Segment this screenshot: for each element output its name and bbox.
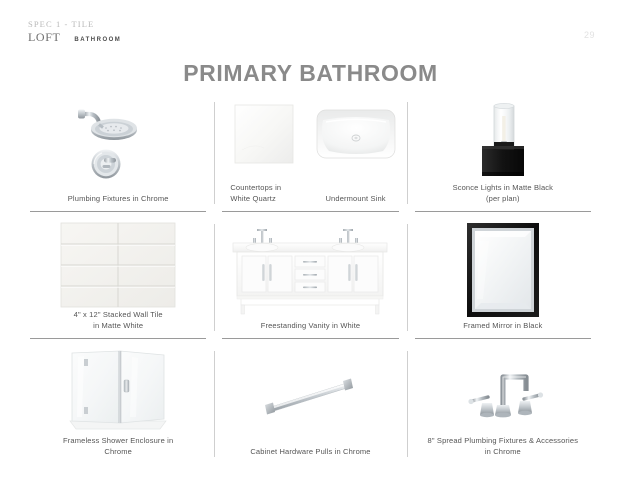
caption-line-1: 8" Spread Plumbing Fixtures & Accessorie… (428, 436, 579, 445)
spec-label: SPEC 1 - TILE (28, 18, 121, 30)
caption-line-2: in Matte White (93, 321, 143, 330)
room-name: BATHROOM (74, 34, 121, 47)
product-cell-stacked-wall-tile: 4" x 12" Stacked Wall Tile in Matte Whit… (22, 218, 214, 345)
widespread-faucet-image (413, 347, 593, 435)
product-caption: Framed Mirror in Black (413, 320, 593, 345)
wall-sconce-image (413, 98, 593, 182)
product-cell-plumbing-fixtures-chrome: Plumbing Fixtures in Chrome (22, 96, 214, 218)
showerhead-and-valve-image (28, 98, 208, 193)
project-name: LOFT (28, 31, 60, 44)
spec-sheet-page: SPEC 1 - TILE LOFT BATHROOM 29 PRIMARY B… (0, 0, 621, 480)
product-caption: Sconce Lights in Matte Black (per plan) (413, 182, 593, 218)
caption-line-1: Countertops in (230, 183, 281, 192)
product-cell-cabinet-hardware-pulls: Cabinet Hardware Pulls in Chrome (214, 345, 406, 471)
caption-line-2: (per plan) (486, 194, 520, 203)
double-vanity-image (220, 220, 400, 320)
caption-line-1: Sconce Lights in Matte Black (453, 183, 554, 192)
caption-line-2: in Chrome (485, 447, 521, 456)
undermount-sink-image (311, 98, 401, 193)
framed-mirror-image (413, 220, 593, 320)
product-caption: Freestanding Vanity in White (220, 320, 400, 345)
product-cell-undermount-sink: Undermount Sink (311, 98, 401, 218)
product-cell-frameless-shower-enclosure: Frameless Shower Enclosure in Chrome (22, 345, 214, 471)
product-cell-countertops-white-quartz: Countertops in White Quartz (220, 98, 310, 218)
product-caption: 4" x 12" Stacked Wall Tile in Matte Whit… (28, 309, 208, 345)
product-cell-countertop-and-sink: Countertops in White Quartz (214, 96, 406, 218)
caption-line-2: White Quartz (230, 194, 276, 203)
document-header: SPEC 1 - TILE LOFT BATHROOM (28, 18, 121, 47)
product-cell-framed-mirror-black: Framed Mirror in Black (407, 218, 599, 345)
caption-line-1: 4" x 12" Stacked Wall Tile (74, 310, 163, 319)
shower-enclosure-image (28, 347, 208, 435)
page-number: 29 (584, 30, 595, 40)
page-title: PRIMARY BATHROOM (0, 60, 621, 87)
product-caption: Cabinet Hardware Pulls in Chrome (220, 446, 400, 471)
product-caption: Undermount Sink (311, 193, 401, 218)
quartz-slab-sample-image (220, 98, 310, 182)
caption-line-2: Chrome (104, 447, 132, 456)
stacked-tile-sample-image (28, 220, 208, 309)
product-cell-spread-plumbing-fixtures: 8" Spread Plumbing Fixtures & Accessorie… (407, 345, 599, 471)
bar-pull-image (220, 347, 400, 446)
product-caption: Countertops in White Quartz (220, 182, 310, 218)
caption-line-1: Frameless Shower Enclosure in (63, 436, 173, 445)
product-caption: Plumbing Fixtures in Chrome (28, 193, 208, 218)
product-cell-freestanding-vanity-white: Freestanding Vanity in White (214, 218, 406, 345)
product-cell-sconce-lights-matte-black: Sconce Lights in Matte Black (per plan) (407, 96, 599, 218)
product-caption: Frameless Shower Enclosure in Chrome (28, 435, 208, 471)
product-caption: 8" Spread Plumbing Fixtures & Accessorie… (413, 435, 593, 471)
product-grid: Plumbing Fixtures in Chrome (22, 96, 599, 468)
